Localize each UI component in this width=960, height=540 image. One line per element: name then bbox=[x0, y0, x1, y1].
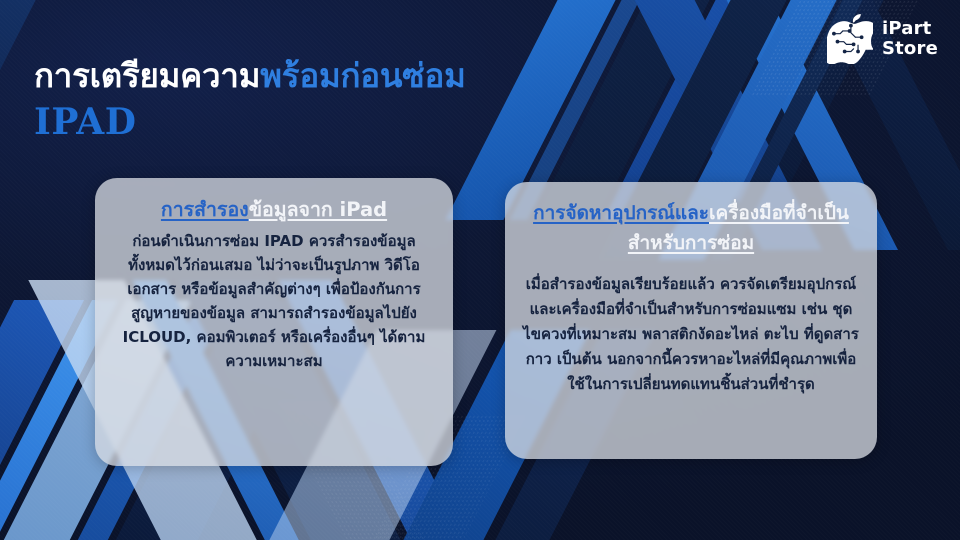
slide-title: การเตรียมความพร้อมก่อนซ่อม IPAD bbox=[34, 52, 674, 146]
tools-card-heading: การจัดหาอุปกรณ์และเครื่องมือที่จำเป็นสำห… bbox=[519, 198, 863, 258]
backup-card-heading: การสำรองข้อมูลจาก iPad bbox=[109, 194, 439, 225]
backup-card-body: ก่อนดำเนินการซ่อม IPAD ควรสำรองข้อมูลทั้… bbox=[109, 229, 439, 373]
brand-logo: iPart Store bbox=[827, 14, 938, 64]
slide-title-line2: IPAD bbox=[34, 98, 674, 146]
apple-circuit-icon bbox=[827, 14, 873, 64]
backup-card: การสำรองข้อมูลจาก iPad ก่อนดำเนินการซ่อม… bbox=[95, 178, 453, 466]
backup-card-heading-blue: การสำรอง bbox=[161, 198, 249, 221]
brand-logo-text: iPart Store bbox=[882, 19, 938, 59]
slide-title-part-blue: พร้อมก่อนซ่อม bbox=[260, 56, 465, 95]
backup-card-heading-white: ข้อมูลจาก iPad bbox=[249, 198, 387, 221]
tools-card: การจัดหาอุปกรณ์และเครื่องมือที่จำเป็นสำห… bbox=[505, 182, 877, 459]
tools-card-body: เมื่อสำรองข้อมูลเรียบร้อยแล้ว ควรจัดเตรี… bbox=[519, 272, 863, 397]
presentation-slide: iPart Store การเตรียมความพร้อมก่อนซ่อม I… bbox=[0, 0, 960, 540]
slide-title-part-white: การเตรียมความ bbox=[34, 56, 260, 95]
brand-logo-line2: Store bbox=[882, 39, 938, 59]
brand-logo-line1: iPart bbox=[882, 19, 938, 39]
tools-card-heading-blue: การจัดหาอุปกรณ์และ bbox=[533, 202, 709, 224]
